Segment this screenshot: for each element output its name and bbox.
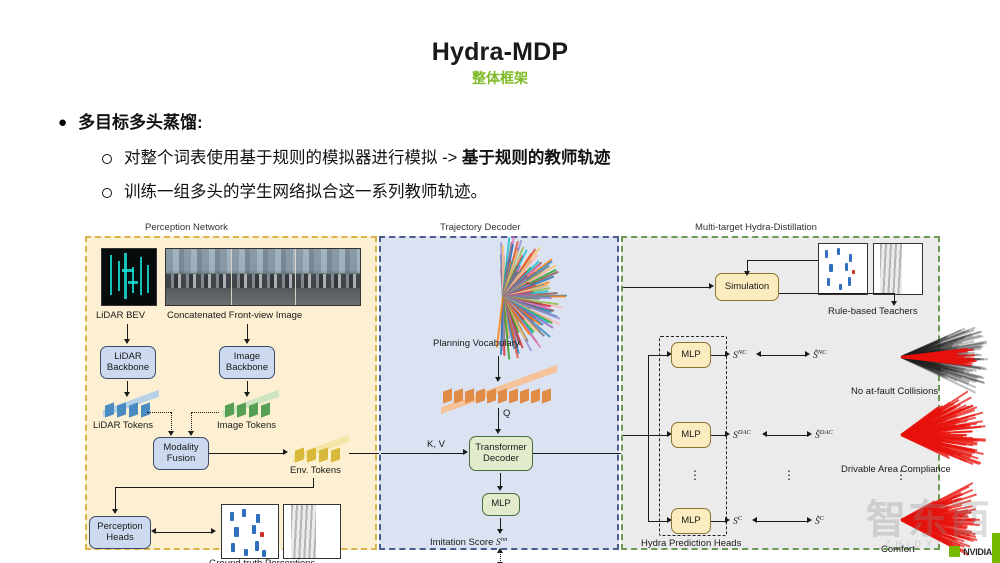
teacher-caption-nc: No at-fault Collisions <box>851 386 938 397</box>
node-mlp-nc[interactable]: MLP <box>671 342 711 368</box>
arrowhead-right-icon <box>805 351 810 357</box>
teacher-fan-dac <box>859 406 943 462</box>
arrow-vocab-to-simulation <box>623 287 711 288</box>
transformer-decoder-line2: Decoder <box>483 454 519 465</box>
front-view-image <box>165 248 361 306</box>
image-backbone-line2: Backbone <box>226 363 268 374</box>
env-tokens-stack <box>293 445 349 462</box>
heads-bus-vertical <box>648 355 649 521</box>
mlp-label: MLP <box>681 430 701 441</box>
teacher-caption-c: Comfort <box>881 544 915 555</box>
nvidia-eye-icon <box>949 546 960 557</box>
bullet-ring-icon <box>102 188 112 198</box>
vocabulary-tokens-stack <box>441 386 557 403</box>
env-tokens-label: Env. Tokens <box>290 465 341 476</box>
lidar-tokens-stack <box>103 400 159 417</box>
perception-heads-line2: Heads <box>106 533 133 544</box>
kv-label: K, V <box>427 439 445 450</box>
gt-perceptions-caption: Ground truth Perceptions <box>209 558 315 563</box>
arrow-vocab-to-tokens <box>498 356 499 378</box>
arrowhead-down-icon <box>744 271 750 276</box>
arrowhead-right-icon <box>463 449 468 455</box>
panel-title-distillation: Multi-target Hydra-Distillation <box>695 222 817 233</box>
teacher-fan-c <box>859 494 943 544</box>
panel-title-perception: Perception Network <box>145 222 228 233</box>
q-label: Q <box>503 408 510 419</box>
node-mlp-c[interactable]: MLP <box>671 508 711 534</box>
mlp-label: MLP <box>681 350 701 361</box>
arrowhead-left-icon <box>756 351 761 357</box>
score-c-pred: SC <box>733 515 742 527</box>
arrowhead-left-icon <box>151 528 156 534</box>
arrowhead-right-icon <box>709 283 714 289</box>
arrowhead-left-icon <box>762 431 767 437</box>
score-dac-teacher: ŜDAC <box>815 429 833 441</box>
arrow-bus-to-mlp-c <box>648 521 669 522</box>
rule-based-teachers-label: Rule-based Teachers <box>828 306 918 317</box>
arrowhead-right-icon <box>725 517 730 523</box>
front-view-crop-3 <box>295 249 360 305</box>
arrowhead-down-icon <box>497 486 503 491</box>
modality-fusion-line2: Fusion <box>167 454 196 465</box>
arrowhead-right-icon <box>283 449 288 455</box>
arrowhead-right-icon <box>807 517 812 523</box>
node-transformer-decoder[interactable]: Transformer Decoder <box>469 436 533 471</box>
gt-lanes-tile <box>283 504 341 559</box>
bullet-list: ● 多目标多头蒸馏: 对整个词表使用基于规则的模拟器进行模拟 -> 基于规则的教… <box>58 112 918 215</box>
arrow-heads-to-gt <box>155 532 213 533</box>
bullet-sub-2: 训练一组多头的学生网络拟合这一系列教师轨迹。 <box>102 181 918 204</box>
node-mlp-imitation[interactable]: MLP <box>482 493 520 516</box>
arrowhead-down-icon <box>112 509 118 514</box>
imitation-score-label: Imitation Score Sim <box>430 536 507 548</box>
arrowhead-right-icon <box>807 431 812 437</box>
slide: Hydra-MDP 整体框架 ● 多目标多头蒸馏: 对整个词表使用基于规则的模拟… <box>0 0 1000 563</box>
image-backbone-line1: Image <box>234 352 260 363</box>
arrow-kv-into-decoder <box>381 453 465 454</box>
arrow-decoder-to-heads-bus <box>623 435 649 436</box>
node-mlp-dac[interactable]: MLP <box>671 422 711 448</box>
panel-perception-network: LiDAR BEV Concatenated Front-view Image … <box>85 236 377 550</box>
arrow-nc-match <box>759 355 807 356</box>
transformer-decoder-line1: Transformer <box>475 443 526 454</box>
lidar-bev-caption: LiDAR BEV <box>96 310 145 321</box>
teacher-fan-nc <box>859 330 943 382</box>
arrow-env-left <box>115 487 314 488</box>
arrowhead-down-icon <box>244 392 250 397</box>
dots-heads: ⋮ <box>689 468 701 482</box>
arrowhead-down-icon <box>124 392 130 397</box>
arrow-dac-match <box>765 435 809 436</box>
panel-trajectory-decoder: Planning Vocabulary Q <box>379 236 619 550</box>
accent-bar <box>992 533 1000 563</box>
imitation-score-symbol: Sim <box>496 538 507 548</box>
hydra-prediction-heads-label: Hydra Prediction Heads <box>641 538 741 549</box>
arrowhead-down-icon <box>124 339 130 344</box>
architecture-diagram: Perception Network Trajectory Decoder Mu… <box>85 222 940 550</box>
arrow-c-match <box>755 521 809 522</box>
lidar-backbone-line1: LiDAR <box>114 352 141 363</box>
gt-bev-tile <box>221 504 279 559</box>
mlp-label: MLP <box>491 499 511 510</box>
arrowhead-right-icon <box>725 351 730 357</box>
dotted-lidar-to-fusion-v <box>171 412 172 432</box>
modality-fusion-line1: Modality <box>163 443 198 454</box>
bullet-main-label: 多目标多头蒸馏: <box>78 112 203 134</box>
node-modality-fusion[interactable]: Modality Fusion <box>153 437 209 470</box>
node-lidar-backbone[interactable]: LiDAR Backbone <box>100 346 156 379</box>
dots-teachers: ⋮ <box>895 468 907 482</box>
bullet-main: ● 多目标多头蒸馏: <box>58 112 918 134</box>
score-dac-pred: SDAC <box>733 429 751 441</box>
arrowhead-down-icon <box>495 429 501 434</box>
arrow-tokens-to-decoder <box>498 408 499 430</box>
teacher-lanes-tile <box>873 243 923 295</box>
planning-vocabulary-label: Planning Vocabulary <box>433 338 520 349</box>
dotted-lidar-to-fusion <box>147 412 171 413</box>
image-tokens-label: Image Tokens <box>217 420 276 431</box>
arrowhead-right-icon <box>211 528 216 534</box>
score-c-teacher: ŜC <box>815 515 824 527</box>
node-perception-heads[interactable]: Perception Heads <box>89 516 151 549</box>
front-view-crop-2 <box>231 249 296 305</box>
page-title: Hydra-MDP <box>0 38 1000 67</box>
panel-title-trajectory: Trajectory Decoder <box>440 222 520 233</box>
front-view-caption: Concatenated Front-view Image <box>167 310 302 321</box>
perception-heads-line1: Perception <box>97 522 142 533</box>
node-image-backbone[interactable]: Image Backbone <box>219 346 275 379</box>
bullet-sub-1-label: 对整个词表使用基于规则的模拟器进行模拟 -> 基于规则的教师轨迹 <box>124 147 610 170</box>
arrow-env-tokens-out <box>349 453 381 454</box>
bullet-sub-2-label: 训练一组多头的学生网络拟合这一系列教师轨迹。 <box>124 181 487 204</box>
arrow-env-to-heads <box>115 487 116 510</box>
arrow-decoder-out <box>533 453 621 454</box>
teacher-bev-tile <box>818 243 868 295</box>
arrowhead-up-icon <box>497 548 503 553</box>
arrowhead-down-icon <box>168 431 174 436</box>
lidar-tokens-label: LiDAR Tokens <box>93 420 153 431</box>
planning-vocabulary-fan <box>443 256 563 336</box>
bullet-ring-icon <box>102 154 112 164</box>
arrowhead-left-icon <box>752 517 757 523</box>
page-subtitle: 整体框架 <box>0 68 1000 88</box>
arrowhead-down-icon <box>495 377 501 382</box>
nvidia-wordmark: NVIDIA <box>963 547 992 557</box>
image-tokens-stack <box>223 400 279 417</box>
arrow-fusion-to-env-tokens <box>209 453 285 454</box>
arrow-bus-to-mlp-dac <box>648 435 669 436</box>
arrow-simulation-to-teachers <box>779 293 895 294</box>
score-nc-pred: SNC <box>733 349 746 361</box>
dotted-image-to-fusion <box>191 412 219 413</box>
bullet-dot-icon: ● <box>58 112 67 134</box>
lidar-backbone-line2: Backbone <box>107 363 149 374</box>
dots-scores: ⋮ <box>783 468 795 482</box>
bullet-sub-1: 对整个词表使用基于规则的模拟器进行模拟 -> 基于规则的教师轨迹 <box>102 147 918 170</box>
arrowhead-down-icon <box>497 529 503 534</box>
score-nc-teacher: ŜNC <box>813 349 826 361</box>
arrow-decoder-to-mlp <box>500 473 501 487</box>
nvidia-logo: NVIDIA <box>949 546 992 557</box>
arrowhead-down-icon <box>188 431 194 436</box>
mlp-label: MLP <box>681 516 701 527</box>
front-view-crop-1 <box>166 249 231 305</box>
panel-multi-target-hydra-distillation: Simulation Rule-bas <box>621 236 940 550</box>
simulation-label: Simulation <box>725 282 769 293</box>
arrow-bus-to-mlp-nc <box>648 355 669 356</box>
arrowhead-down-icon <box>244 339 250 344</box>
arrowhead-right-icon <box>725 431 730 437</box>
dotted-image-to-fusion-v <box>191 412 192 432</box>
lidar-bev-image <box>101 248 157 306</box>
node-simulation[interactable]: Simulation <box>715 273 779 301</box>
